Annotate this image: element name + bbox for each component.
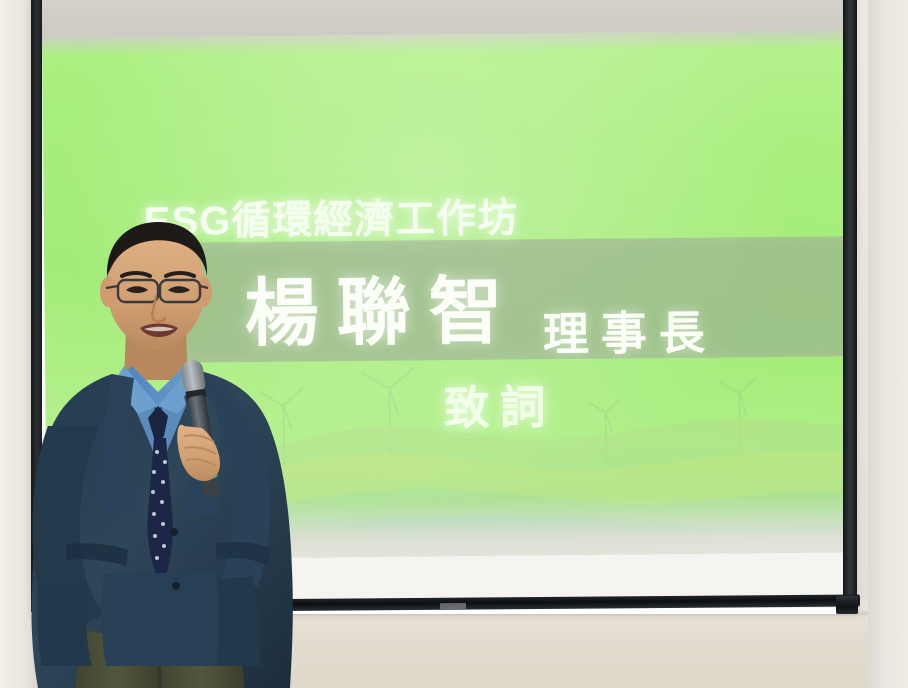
screen-bar-logo — [440, 603, 466, 609]
jacket-button-bottom — [172, 582, 180, 590]
speaker-job-title: 理事長 — [543, 297, 718, 365]
photo-scene: ESG循環經濟工作坊 楊聯智 理事長 致詞 — [0, 0, 908, 688]
slide-agenda-item: 致詞 — [443, 371, 556, 438]
speaker-figure — [8, 214, 328, 688]
jacket-button-top — [170, 528, 178, 536]
wall-right-edge — [868, 0, 908, 688]
screen-bar-right-cap — [836, 596, 858, 614]
projection-screen-right-frame — [843, 0, 857, 614]
